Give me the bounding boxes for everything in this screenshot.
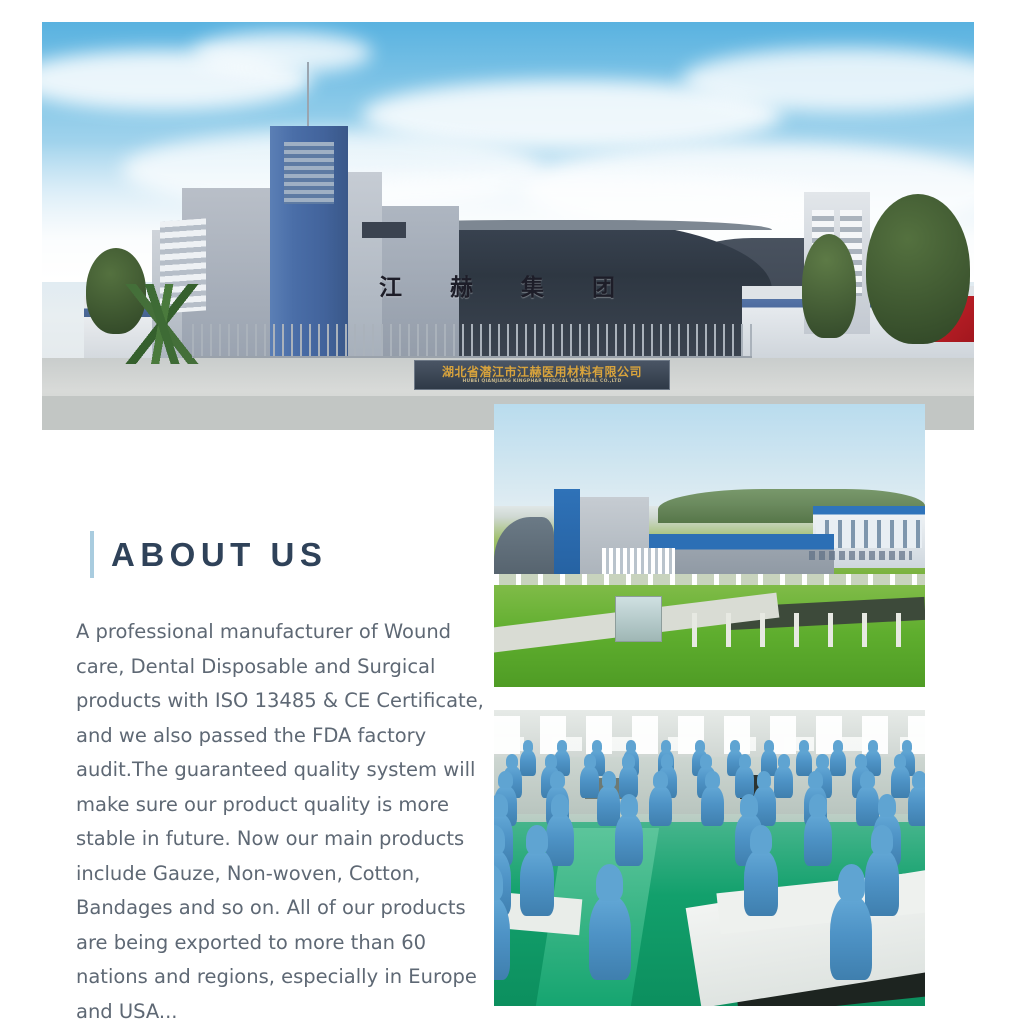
worker-figure [774,766,793,798]
worker-figure [701,786,724,826]
gate-sign-chinese: 湖北省潜江市江赫医用材料有限公司 [442,366,642,379]
worker-figure [589,896,631,980]
worker-figure [804,814,832,866]
factory-exterior-photo [494,404,925,687]
white-fence-wall [494,574,925,585]
gate-sign-english: HUBEI QIANJIANG KINGPHAR MEDICAL MATERIA… [462,379,621,385]
about-us-heading-group: ABOUT US [90,531,327,578]
heading-accent-bar [90,531,94,578]
notice-board [615,596,662,641]
cloud-shape [192,32,372,74]
worker-figure [735,766,754,798]
worker-figure [744,850,778,916]
worker-figure [580,766,599,798]
building-wall-lettering [809,551,912,559]
worker-figure [615,814,643,866]
worker-figure [649,786,672,826]
blue-stair-tower [554,489,580,582]
entrance-fence [192,324,752,358]
worker-figure [520,750,536,776]
flag-mast [307,62,309,126]
page-title: ABOUT US [111,531,327,578]
worker-figure [619,766,638,798]
worker-figure [865,850,899,916]
worker-figure [520,850,554,916]
building-roof-sign: 江 赫 集 团 [372,268,642,302]
fence-posts [692,613,916,647]
about-us-page: 江 赫 集 团 湖北省潜江市江赫医用材料有限公司 HUBEI QIANJIANG… [0,0,1031,1034]
worker-figure [891,766,910,798]
worker-figure [908,786,925,826]
worker-figure [830,750,846,776]
hangar-building-left [494,517,554,579]
window-dark [362,222,406,238]
worker-figure [830,896,872,980]
tree-shape [866,194,970,344]
factory-entrance-photo: 江 赫 集 团 湖北省潜江市江赫医用材料有限公司 HUBEI QIANJIANG… [42,22,974,430]
tree-shape [802,234,856,338]
production-workshop-photo [494,710,925,1006]
about-us-description: A professional manufacturer of Wound car… [76,615,496,1029]
gate-company-sign: 湖北省潜江市江赫医用材料有限公司 HUBEI QIANJIANG KINGPHA… [414,360,670,390]
worker-figure [597,786,620,826]
worker-figure [796,750,812,776]
